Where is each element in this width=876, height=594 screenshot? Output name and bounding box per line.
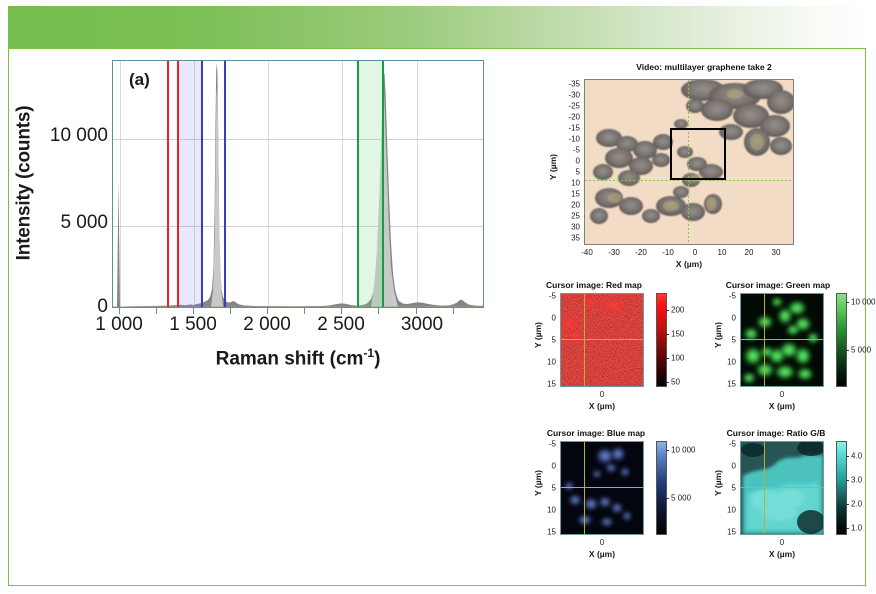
red-map-content (561, 294, 643, 386)
spectrum-ytick-5000: 5 000 (60, 212, 108, 234)
green-map-title: Cursor image: Green map (714, 280, 842, 290)
green-marker-band (357, 61, 383, 307)
video-x-axis-label: X (µm) (584, 259, 794, 269)
spectrum-x-axis: 1 000 1 500 2 000 2 500 3000 (112, 308, 484, 334)
green-map-image[interactable] (740, 293, 824, 387)
spectrum-xtick-1500: 1 500 (169, 314, 217, 336)
spectrum-xtick-2500: 2 500 (317, 314, 365, 336)
blue-map-cursor-vline[interactable] (584, 442, 585, 534)
video-cursor-hline[interactable] (585, 180, 793, 181)
blue-map-x-axis-label: X (µm) (560, 549, 644, 559)
blue-map-xtick-0: 0 (595, 538, 609, 547)
marker-green-1[interactable] (357, 61, 359, 307)
spectrum-xlabel-tail: ) (374, 348, 380, 369)
video-title: Video: multilayer graphene take 2 (546, 62, 862, 72)
blue-marker-band (179, 61, 201, 307)
spectrum-xlabel-main: Raman shift (cm (216, 348, 364, 369)
green-map-cursor-hline[interactable] (741, 339, 823, 340)
video-roi-box[interactable] (670, 128, 726, 180)
red-map-colorbar[interactable]: 200 150 100 50 (656, 293, 667, 387)
red-map-image[interactable] (560, 293, 644, 387)
red-map-x-axis-label: X (µm) (560, 401, 644, 411)
red-map-cursor-vline[interactable] (584, 294, 585, 386)
ratio-map-image[interactable] (740, 441, 824, 535)
raman-spectrum-figure: Intensity (counts) 10 000 5 000 0 (a) (12, 58, 532, 398)
green-map-xtick-0: 0 (775, 390, 789, 399)
ratio-map-cursor-vline[interactable] (764, 442, 765, 534)
green-map-cursor-vline[interactable] (764, 294, 765, 386)
red-map-xtick-0: 0 (595, 390, 609, 399)
blue-map-figure: Cursor image: Blue map Y (µm) -5 0 5 10 … (534, 428, 696, 560)
marker-blue-1[interactable] (201, 61, 203, 307)
spectrum-trace (113, 61, 484, 308)
blue-map-content (561, 442, 643, 534)
ratio-map-x-axis-label: X (µm) (740, 549, 824, 559)
ratio-map-cursor-hline[interactable] (741, 487, 823, 488)
red-map-figure: Cursor image: Red map Y (µm) -5 0 5 10 1… (534, 280, 696, 412)
spectrum-y-ticks: 10 000 5 000 0 (30, 58, 108, 308)
ratio-map-xtick-0: 0 (775, 538, 789, 547)
video-image[interactable] (584, 79, 794, 245)
blue-map-colorbar[interactable]: 10 000 5 000 (656, 441, 667, 535)
spectrum-x-axis-label: Raman shift (cm-1) (112, 346, 484, 370)
blue-map-cursor-hline[interactable] (561, 487, 643, 488)
green-map-x-axis-label: X (µm) (740, 401, 824, 411)
spectrum-xtick-2000: 2 000 (243, 314, 291, 336)
marker-red-2[interactable] (177, 61, 179, 307)
header-gradient-band (8, 6, 868, 48)
video-figure: Video: multilayer graphene take 2 Y (µm)… (546, 62, 862, 274)
spectrum-xtick-3000: 3000 (401, 314, 443, 336)
ratio-map-title: Cursor image: Ratio G/B (714, 428, 838, 438)
spectrum-ytick-10000: 10 000 (50, 125, 108, 147)
red-map-title: Cursor image: Red map (534, 280, 654, 290)
ratio-map-content (741, 442, 823, 534)
marker-red-1[interactable] (167, 61, 169, 307)
blue-map-image[interactable] (560, 441, 644, 535)
spectrum-plot-area[interactable]: (a) (112, 60, 484, 308)
red-map-cursor-hline[interactable] (561, 339, 643, 340)
marker-blue-2[interactable] (224, 61, 226, 307)
spectrum-xtick-1000: 1 000 (95, 314, 143, 336)
marker-green-2[interactable] (382, 61, 384, 307)
spectrum-xlabel-exponent: -1 (363, 346, 374, 360)
ratio-map-figure: Cursor image: Ratio G/B Y (µm) -5 0 5 10… (714, 428, 876, 560)
blue-map-title: Cursor image: Blue map (534, 428, 658, 438)
screenshot-root: Intensity (counts) 10 000 5 000 0 (a) (0, 0, 876, 594)
ratio-map-colorbar[interactable]: 4.0 3.0 2.0 1.0 (836, 441, 847, 535)
green-map-figure: Cursor image: Green map Y (µm) -5 0 5 10… (714, 280, 876, 412)
green-map-content (741, 294, 823, 386)
green-map-colorbar[interactable]: 10 000 5 000 (836, 293, 847, 387)
